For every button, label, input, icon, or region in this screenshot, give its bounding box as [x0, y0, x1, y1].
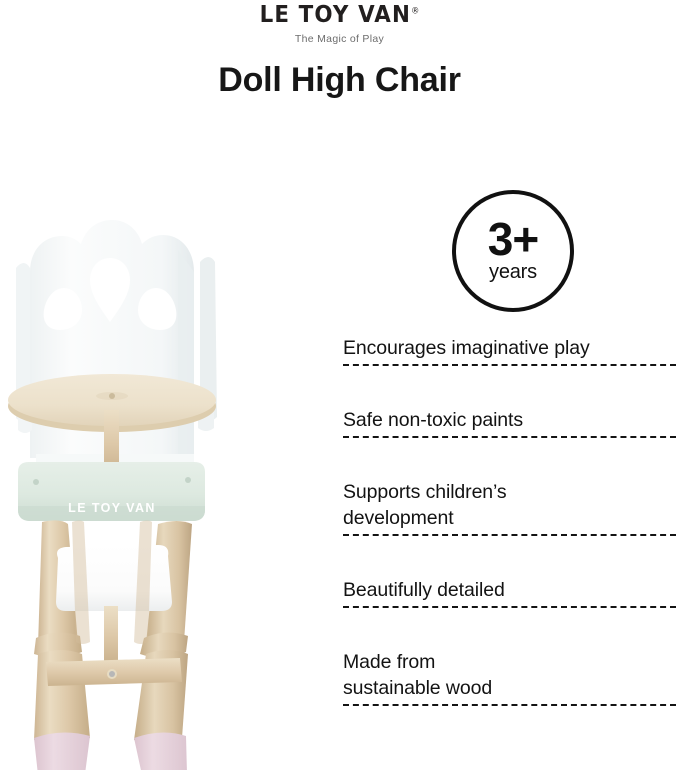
backrest-shading — [178, 250, 194, 458]
seat-screw-right — [185, 477, 191, 483]
footrest-support-post — [104, 606, 118, 662]
foot-pink-right — [134, 732, 188, 770]
seat-brand-text: LE TOY VAN — [68, 501, 156, 515]
page-title: Doll High Chair — [0, 61, 679, 100]
feature-label: Beautifully detailed — [343, 577, 676, 603]
doll-high-chair-illustration: LE TOY VAN — [0, 210, 250, 770]
feature-label: Encourages imaginative play — [343, 335, 676, 361]
age-badge: 3+ years — [452, 190, 574, 312]
brand-logo: LE TOY VAN® — [24, 2, 655, 28]
feature-label: Safe non-toxic paints — [343, 407, 676, 433]
product-image: LE TOY VAN — [0, 210, 250, 770]
feature-row: Supports children’s development — [343, 479, 676, 536]
brand-tagline: The Magic of Play — [0, 33, 679, 45]
brace-screw — [109, 671, 115, 677]
chair-cross-brace — [46, 658, 182, 686]
feature-label: Supports children’s development — [343, 479, 676, 531]
feature-row: Safe non-toxic paints — [343, 407, 676, 438]
feature-label: Made from sustainable wood — [343, 649, 676, 701]
foot-pink-left — [34, 732, 90, 770]
brand-logo-text: LE TOY VAN — [260, 2, 411, 28]
age-badge-unit: years — [489, 262, 537, 282]
registered-trademark-icon: ® — [411, 6, 419, 16]
age-badge-value: 3+ — [488, 218, 538, 260]
product-infographic: LE TOY VAN® The Magic of Play Doll High … — [0, 0, 679, 770]
chair-seat-base: LE TOY VAN — [18, 462, 205, 521]
tray-centre-screw — [109, 393, 115, 399]
seat-screw-left — [33, 479, 39, 485]
feature-row: Beautifully detailed — [343, 577, 676, 608]
feature-list: Encourages imaginative play Safe non-tox… — [343, 335, 676, 706]
feature-row: Made from sustainable wood — [343, 649, 676, 706]
feature-row: Encourages imaginative play — [343, 335, 676, 366]
